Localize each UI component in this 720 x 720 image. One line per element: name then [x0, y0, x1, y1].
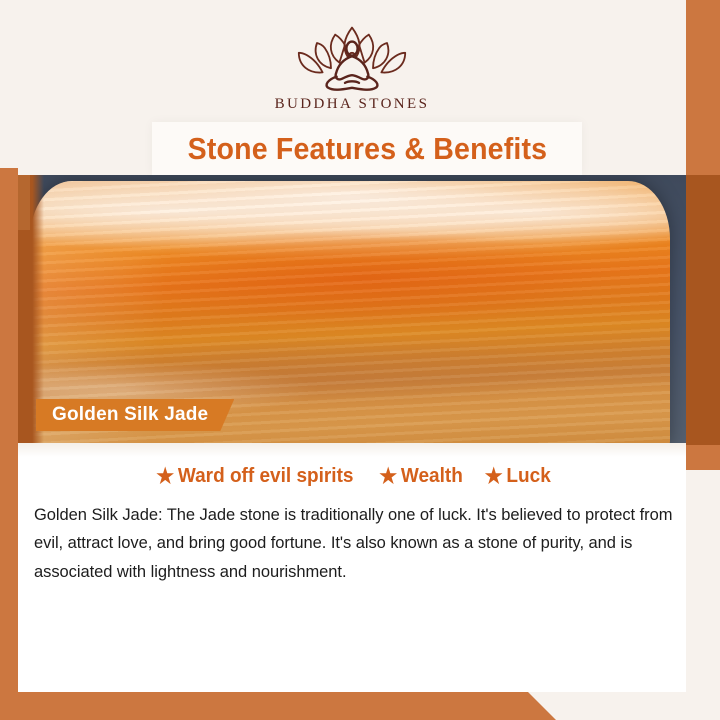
page-title-text: Stone Features & Benefits — [187, 131, 547, 167]
frame-right-band-photo — [686, 175, 720, 445]
star-icon: ★ — [157, 466, 175, 487]
frame-bottom-band — [0, 692, 720, 720]
stone-photo: Golden Silk Jade — [18, 175, 686, 443]
header-section: BUDDHA STONES Stone Features & Benefits — [18, 0, 686, 175]
stone-feature-card: BUDDHA STONES Stone Features & Benefits … — [0, 0, 720, 720]
star-icon: ★ — [485, 466, 503, 487]
benefit-label: Luck — [507, 465, 551, 488]
benefits-list: ★ Ward off evil spirits ★ Wealth ★ Luck — [18, 465, 686, 488]
content-top-fade — [18, 443, 686, 457]
lotus-meditation-icon — [282, 22, 422, 92]
description-text: Golden Silk Jade: The Jade stone is trad… — [34, 501, 674, 586]
brand-logo: BUDDHA STONES — [18, 22, 686, 113]
brand-name: BUDDHA STONES — [275, 96, 430, 113]
benefit-label: Wealth — [401, 465, 463, 488]
benefit-item: ★ Wealth — [379, 465, 463, 488]
benefit-item: ★ Ward off evil spirits — [157, 465, 354, 488]
stone-name-badge: Golden Silk Jade — [36, 399, 234, 431]
page-title: Stone Features & Benefits — [152, 122, 582, 175]
frame-left-band — [0, 168, 18, 720]
benefit-label: Ward off evil spirits — [178, 465, 354, 488]
star-icon: ★ — [379, 466, 397, 487]
stone-name-text: Golden Silk Jade — [52, 404, 208, 426]
benefit-item: ★ Luck — [485, 465, 551, 488]
description-section: ★ Ward off evil spirits ★ Wealth ★ Luck … — [18, 443, 686, 692]
